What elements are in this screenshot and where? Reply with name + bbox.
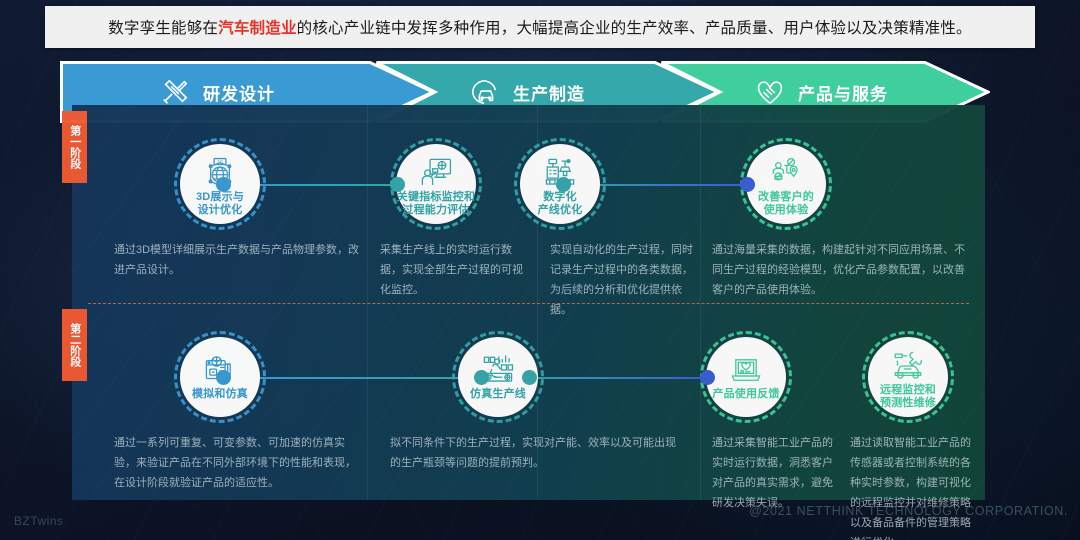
desc-s1c1: 通过3D模型详细展示生产数据与产品物理参数，改进产品设计。 [114, 240, 364, 280]
node-caption: 改善客户的 使用体验 [758, 191, 814, 217]
link-dot [740, 177, 755, 192]
link-dot [474, 370, 489, 385]
node-caption: 模拟和仿真 [192, 388, 248, 401]
monitor-user-icon [419, 156, 453, 190]
pencil-ruler-icon [160, 77, 190, 107]
arrow-label: 生产制造 [513, 80, 585, 105]
node-caption: 远程监控和 预测性维修 [880, 384, 936, 410]
node-disc: 关键指标监控和 过程能力评估 [396, 144, 476, 224]
arrow-label-wrap: 研发设计 [160, 77, 275, 107]
stage-tab-2[interactable]: 第二阶段 [62, 309, 87, 381]
node-remote-monitor-maintenance[interactable]: 远程监控和 预测性维修 [862, 331, 954, 423]
node-disc: 产品使用反馈 [706, 337, 786, 417]
footer-brand: BZTwins [14, 514, 64, 528]
node-disc: 远程监控和 预测性维修 [868, 337, 948, 417]
desc-s2c3: 通过采集智能工业产品的实时运行数据，洞悉客户对产品的真实需求，避免研发决策失误。 [712, 433, 840, 513]
node-caption: 产品使用反馈 [712, 388, 779, 401]
arrow-label: 产品与服务 [798, 80, 888, 105]
link-dot [216, 370, 231, 385]
stage-tab-2-label: 第二阶段 [68, 323, 81, 367]
car-shield-icon [470, 77, 500, 107]
arrow-label-wrap: 生产制造 [470, 77, 585, 107]
link-dot [556, 177, 571, 192]
handshake-icon [755, 77, 785, 107]
stage-divider [88, 303, 969, 304]
desc-s2c1: 通过一系列可重复、可变参数、可加速的仿真实验，来验证产品在不同外部环境下的性能和… [114, 433, 362, 493]
link-s2-n2-n3 [522, 377, 707, 379]
node-disc: 改善客户的 使用体验 [746, 144, 826, 224]
desc-s1c2: 采集生产线上的实时运行数据，实现全部生产过程的可视化监控。 [380, 240, 525, 300]
stage-tab-1-label: 第一阶段 [68, 125, 81, 169]
link-dot [700, 370, 715, 385]
laptop-heart-icon [729, 353, 763, 387]
link-dot [390, 177, 405, 192]
desc-s2c2: 拟不同条件下的生产过程，实现对产能、效率以及可能出现的生产瓶颈等问题的提前预判。 [390, 433, 685, 473]
customer-map-icon [769, 156, 803, 190]
title-highlight: 汽车制造业 [218, 20, 297, 37]
car-wrench-icon [891, 349, 925, 383]
stage-tab-1[interactable]: 第一阶段 [62, 111, 87, 183]
title-prefix: 数字孪生能够在 [108, 20, 218, 37]
title-suffix: 的核心产业链中发挥多种作用，大幅提高企业的生产效率、产品质量、用户体验以及决策精… [297, 20, 972, 37]
node-caption: 仿真生产线 [470, 388, 526, 401]
arrow-label: 研发设计 [203, 80, 275, 105]
link-dot [522, 370, 537, 385]
desc-s1c3: 实现自动化的生产过程，同时记录生产过程中的各类数据，为后续的分析和优化提供依据。 [550, 240, 698, 320]
title-banner: 数字孪生能够在汽车制造业的核心产业链中发挥多种作用，大幅提高企业的生产效率、产品… [45, 6, 1035, 48]
content-panel: 第一阶段 第二阶段 3D 3D展示与 设计优化 [72, 105, 985, 500]
node-caption: 3D展示与 设计优化 [196, 191, 244, 217]
node-caption: 数字化 产线优化 [538, 191, 583, 217]
page-title: 数字孪生能够在汽车制造业的核心产业链中发挥多种作用，大幅提高企业的生产效率、产品… [108, 16, 972, 38]
desc-s1c4: 通过海量采集的数据，构建起针对不同应用场景、不同生产过程的经验模型，优化产品参数… [712, 240, 970, 300]
link-dot [216, 177, 231, 192]
arrow-label-wrap: 产品与服务 [755, 77, 888, 107]
desc-s2c4: 通过读取智能工业产品的传感器或者控制系统的各种实时参数，构建可视化的远程监控并对… [850, 433, 980, 540]
node-caption: 关键指标监控和 过程能力评估 [397, 191, 475, 217]
footer-copyright: @2021 NETTHINK TECHNOLOGY CORPORATION. [749, 504, 1068, 518]
